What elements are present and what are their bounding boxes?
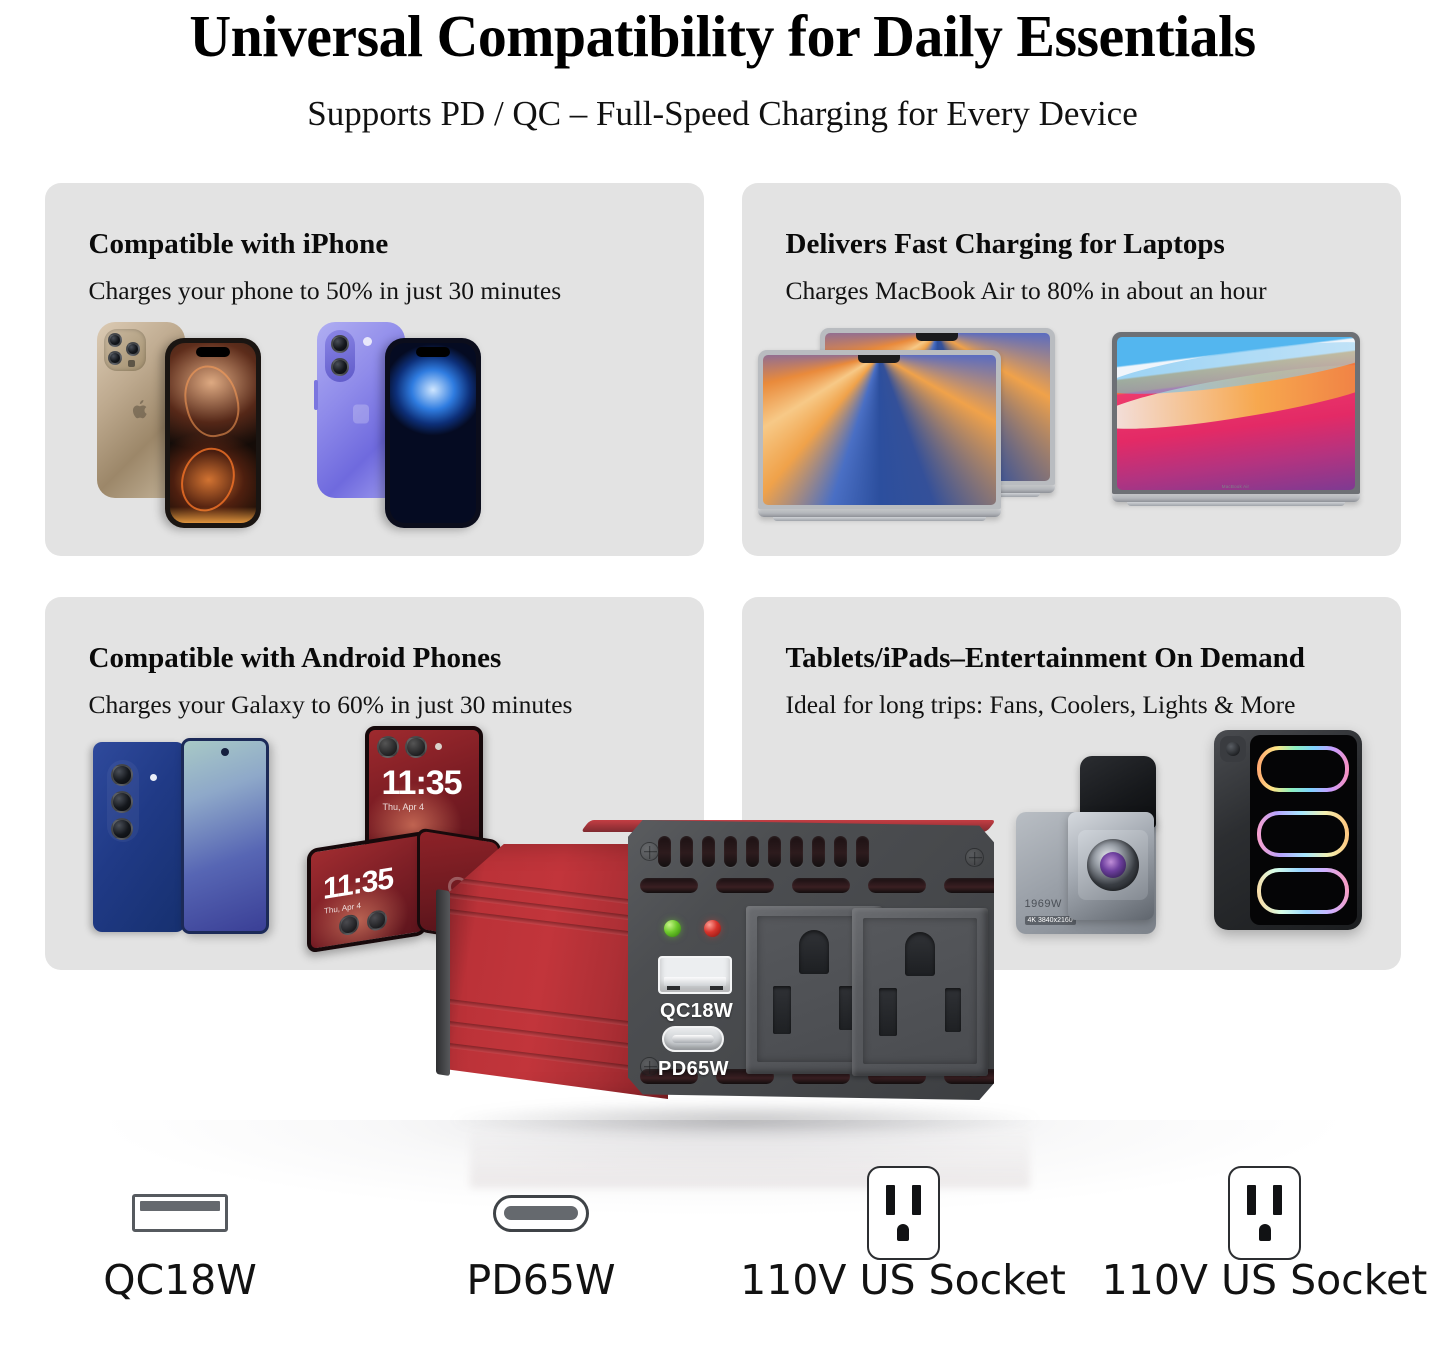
vent-slot (856, 836, 869, 867)
usb-c-port-label: PD65W (658, 1058, 729, 1081)
camera-plate (325, 330, 355, 382)
legend-icon-wrap (1084, 1170, 1445, 1256)
camera-lens (126, 342, 140, 356)
camera-lens (108, 333, 122, 347)
inverter-front-panel: QC18W PD65W (628, 820, 994, 1100)
vent-slot (790, 836, 803, 867)
camera-lens (1226, 742, 1240, 756)
port-legend: QC18W PD65W 110V US Socket (0, 1170, 1445, 1304)
usb-a-port-label: QC18W (660, 1000, 733, 1023)
iphone-front (385, 338, 481, 528)
lockscreen-time: 11:35 (323, 862, 393, 907)
ipad-pro (1214, 730, 1362, 930)
vent-slot (658, 836, 671, 867)
car-power-inverter: QC18W PD65W (440, 820, 1040, 1120)
usb-c-port[interactable] (662, 1026, 724, 1052)
camera-lens (111, 791, 133, 813)
vent-slot (716, 878, 774, 893)
vent-slot (640, 878, 698, 893)
ac-neutral-slot (879, 988, 897, 1036)
card-subtitle: Charges MacBook Air to 80% in about an h… (786, 275, 1401, 307)
legend-item-socket-1: 110V US Socket (722, 1170, 1084, 1304)
iphone-screen (390, 343, 476, 523)
wallpaper-m-stroke (1257, 868, 1349, 914)
screw-icon (640, 842, 659, 861)
vent-slot (768, 836, 781, 867)
dynamic-island (196, 347, 230, 357)
razr-folded-screen: 11:35 Thu, Apr 4 (307, 830, 427, 953)
dash-cam: 1969W 4K 3840x2160 (1016, 746, 1196, 936)
fold-screen-panel (181, 738, 269, 934)
infographic-page: Universal Compatibility for Daily Essent… (0, 0, 1445, 1357)
us-socket-icon (1228, 1166, 1301, 1260)
laptop-foot (773, 517, 986, 521)
apple-logo (132, 400, 149, 420)
legend-label: QC18W (0, 1256, 360, 1304)
header: Universal Compatibility for Daily Essent… (0, 0, 1445, 138)
iphone-pro-gold (93, 318, 293, 533)
page-title: Universal Compatibility for Daily Essent… (14, 2, 1430, 70)
macbook-air-front (758, 350, 1001, 521)
card-media-laptops: MacBook Air (742, 306, 1401, 556)
lockscreen-time: 11:35 (382, 764, 462, 803)
screw-icon (965, 848, 984, 867)
laptop-base (758, 509, 1001, 517)
camera-lens (339, 913, 359, 936)
vent-slot (792, 878, 850, 893)
lidar-sensor (128, 360, 135, 367)
legend-item-qc18w: QC18W (0, 1170, 360, 1304)
ac-hot-slot (945, 988, 961, 1032)
socket-slot-left (1247, 1185, 1256, 1215)
wallpaper-m-stroke (1257, 811, 1349, 857)
legend-icon-wrap (722, 1170, 1084, 1256)
vent-slot (724, 836, 737, 867)
laptop-base (1112, 494, 1360, 502)
vent-slot (680, 836, 693, 867)
us-socket-icon (867, 1166, 940, 1260)
ac-ground-slot (799, 930, 829, 974)
card-subtitle: Ideal for long trips: Fans, Coolers, Lig… (786, 689, 1401, 721)
iphone-front (165, 338, 261, 528)
usb-a-port[interactable] (658, 956, 732, 994)
flash-led (435, 743, 442, 750)
ipad-screen (1250, 735, 1357, 925)
card-title: Compatible with Android Phones (89, 641, 704, 675)
camera-lens (108, 351, 122, 365)
legend-icon-wrap (0, 1170, 360, 1256)
iphone-screen (170, 343, 256, 523)
ac-ground-slot (905, 932, 935, 976)
socket-ground-hole (897, 1224, 909, 1241)
screw-icon (640, 1057, 659, 1076)
wallpaper-glow (170, 507, 256, 523)
vent-row-top (658, 836, 869, 867)
inverter-side-edge (436, 889, 450, 1076)
wallpaper-m-stroke (1257, 746, 1349, 792)
usb-c-icon (493, 1195, 589, 1232)
card-subtitle: Charges your Galaxy to 60% in just 30 mi… (89, 689, 704, 721)
iphone-ultramarine (313, 318, 513, 533)
card-title: Compatible with iPhone (89, 227, 704, 261)
camera-plate (104, 329, 146, 371)
side-button (314, 380, 318, 410)
camera-lens (331, 358, 349, 376)
socket-ground-hole (1259, 1224, 1271, 1241)
fault-led-red (704, 920, 721, 937)
punch-hole-camera (221, 748, 229, 756)
vent-row-middle (640, 878, 1002, 893)
legend-label: 110V US Socket (722, 1256, 1084, 1304)
legend-item-socket-2: 110V US Socket (1084, 1170, 1445, 1304)
legend-icon-wrap (360, 1170, 722, 1256)
feature-card-iphone: Compatible with iPhone Charges your phon… (45, 183, 704, 556)
vent-slot (812, 836, 825, 867)
laptop-brand-label: MacBook Air (1222, 484, 1249, 489)
flash-led (363, 337, 372, 346)
ac-outlet[interactable] (852, 908, 988, 1076)
lens-glass (1100, 852, 1126, 878)
card-row-top: Compatible with iPhone Charges your phon… (0, 183, 1445, 556)
lockscreen-date: Thu, Apr 4 (383, 802, 425, 812)
camera-lens (111, 764, 133, 786)
camera-lens (405, 736, 427, 758)
socket-slot-right (1273, 1185, 1282, 1215)
socket-slot-left (886, 1185, 895, 1215)
camera-lens (331, 335, 349, 353)
wallpaper-arc (177, 359, 246, 442)
vent-slot (868, 878, 926, 893)
fold-back-panel (93, 742, 185, 932)
legend-item-pd65w: PD65W (360, 1170, 722, 1304)
ac-outlet-face (863, 918, 977, 1064)
usb-a-icon (132, 1194, 228, 1232)
camera-lens (367, 909, 387, 932)
vent-slot (702, 836, 715, 867)
usb-a-tongue (664, 977, 726, 986)
card-title: Tablets/iPads–Entertainment On Demand (786, 641, 1401, 675)
legend-label: PD65W (360, 1256, 722, 1304)
socket-slot-right (912, 1185, 921, 1215)
card-subtitle: Charges your phone to 50% in just 30 min… (89, 275, 704, 307)
galaxy-z-fold (93, 734, 303, 949)
webcam-notch (858, 355, 900, 363)
power-led-green (664, 920, 681, 937)
macbook-air-bigsur: MacBook Air (1112, 332, 1360, 506)
vent-slot (834, 836, 847, 867)
card-title: Delivers Fast Charging for Laptops (786, 227, 1401, 261)
ac-neutral-slot (773, 986, 791, 1034)
camera-lens (377, 736, 399, 758)
feature-card-laptops: Delivers Fast Charging for Laptops Charg… (742, 183, 1401, 556)
webcam-notch (916, 333, 958, 341)
camera-lens (111, 818, 133, 840)
legend-label: 110V US Socket (1084, 1256, 1445, 1304)
flash-led (150, 774, 157, 781)
vent-slot (944, 878, 1002, 893)
dashcam-lens-plate (1078, 830, 1148, 900)
page-subtitle: Supports PD / QC – Full-Speed Charging f… (0, 90, 1445, 138)
card-media-iphones (45, 306, 704, 556)
apple-logo (353, 404, 369, 423)
dynamic-island (416, 347, 450, 357)
laptop-foot (1127, 502, 1345, 506)
vent-slot (746, 836, 759, 867)
camera-lens (1087, 839, 1139, 891)
camera-plate (1220, 736, 1246, 762)
